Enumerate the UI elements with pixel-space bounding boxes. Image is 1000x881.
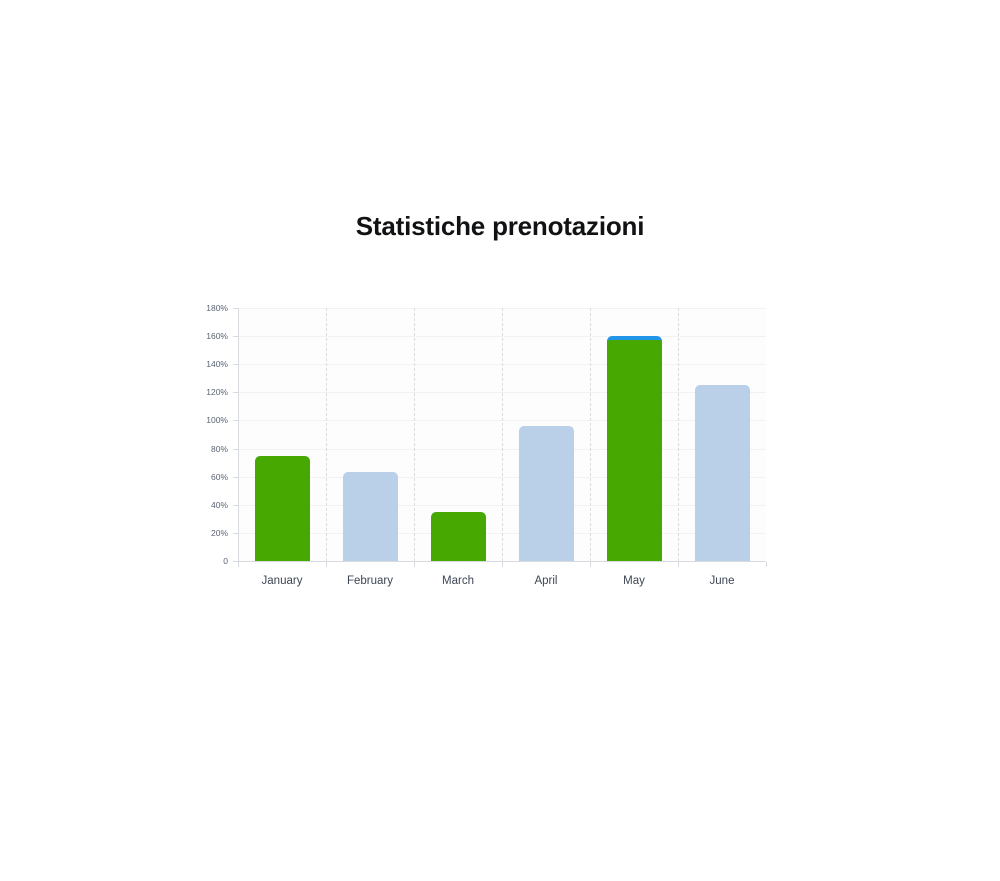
bar-chart[interactable]: 020%40%60%80%100%120%140%160%180% Januar… [200, 300, 780, 600]
x-tick-mark [326, 562, 327, 567]
y-tick-label: 100% [188, 415, 228, 425]
y-tick-label: 80% [188, 444, 228, 454]
x-axis-label-march[interactable]: March [414, 574, 502, 588]
x-axis-label-february[interactable]: February [326, 574, 414, 588]
bar-february[interactable] [343, 472, 398, 561]
x-tick-mark [414, 562, 415, 567]
bars-container [238, 308, 766, 561]
y-tick-label: 40% [188, 500, 228, 510]
x-tick-mark [678, 562, 679, 567]
x-axis-label-may[interactable]: May [590, 574, 678, 588]
x-axis-label-april[interactable]: April [502, 574, 590, 588]
bar-january[interactable] [255, 456, 310, 561]
y-tick-label: 120% [188, 387, 228, 397]
y-tick-label: 180% [188, 303, 228, 313]
x-tick-mark [502, 562, 503, 567]
bar-april[interactable] [519, 426, 574, 561]
y-tick-label: 140% [188, 359, 228, 369]
x-tick-mark [238, 562, 239, 567]
bar-march[interactable] [431, 512, 486, 561]
y-tick-label: 0 [188, 556, 228, 566]
bar-june[interactable] [695, 385, 750, 561]
y-tick-label: 60% [188, 472, 228, 482]
bar-may[interactable] [607, 336, 662, 561]
y-tick-label: 160% [188, 331, 228, 341]
x-tick-mark [590, 562, 591, 567]
page-title: Statistiche prenotazioni [0, 208, 1000, 244]
page-root: Statistiche prenotazioni 020%40%60%80%10… [0, 0, 1000, 881]
x-axis-label-june[interactable]: June [678, 574, 766, 588]
x-tick-mark [766, 562, 767, 567]
y-tick-label: 20% [188, 528, 228, 538]
x-axis-label-january[interactable]: January [238, 574, 326, 588]
